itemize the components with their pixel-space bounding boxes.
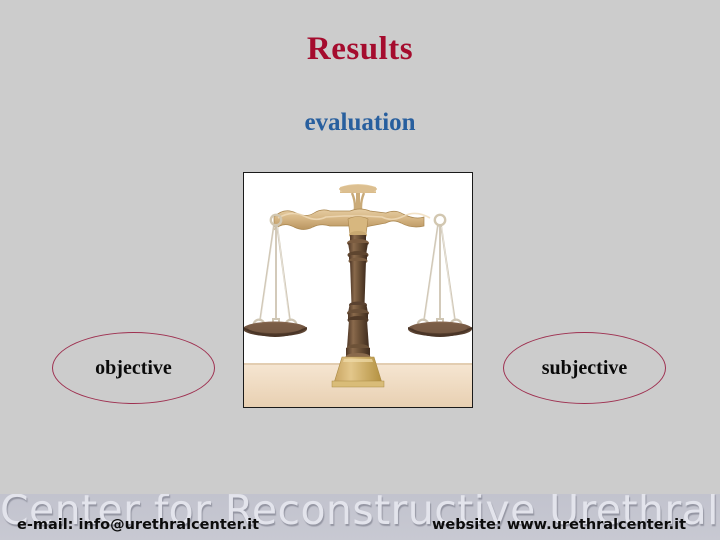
slide-subtitle: evaluation — [0, 108, 720, 138]
balance-scale-icon — [244, 173, 472, 407]
presentation-slide: Results evaluation — [0, 0, 720, 540]
page-title: Results — [0, 30, 720, 68]
callout-label-objective: objective — [95, 357, 172, 380]
callout-ellipse-objective[interactable]: objective — [52, 332, 215, 404]
callout-ellipse-subjective[interactable]: subjective — [503, 332, 666, 404]
footer-email-text[interactable]: e-mail: info@urethralcenter.it — [17, 516, 259, 534]
callout-label-subjective: subjective — [542, 357, 628, 380]
footer-band: Center for Reconstructive Urethral Surge… — [0, 494, 720, 540]
balance-scale-figure — [243, 172, 473, 408]
footer-website-text[interactable]: website: www.urethralcenter.it — [432, 516, 686, 534]
